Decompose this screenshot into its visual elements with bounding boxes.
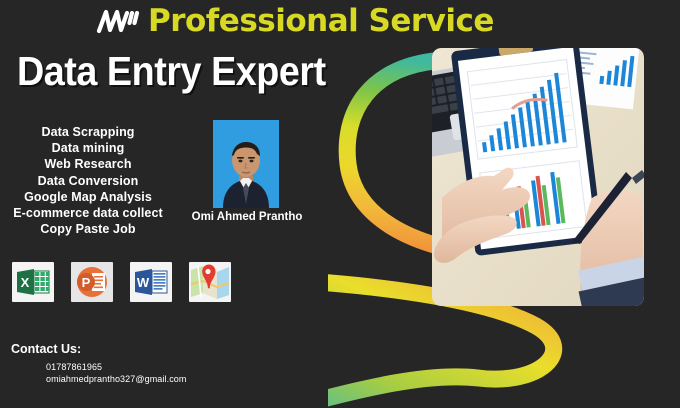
profile-name: Omi Ahmed Prantho	[183, 211, 311, 223]
google-maps-icon[interactable]	[189, 262, 231, 302]
squiggle-zigzag-logo	[96, 6, 142, 36]
list-item: Data mining	[0, 140, 176, 156]
excel-icon[interactable]: X	[12, 262, 54, 302]
svg-text:X: X	[21, 275, 30, 290]
avatar	[213, 120, 279, 208]
word-icon[interactable]: W	[130, 262, 172, 302]
list-item: Copy Paste Job	[0, 221, 176, 237]
business-charts-clipboard-photo	[432, 48, 644, 306]
page-title: Data Entry Expert	[17, 48, 326, 94]
app-icon-row: X P W	[12, 262, 231, 302]
svg-text:P: P	[82, 275, 91, 290]
brand-title: Professional Service	[148, 4, 494, 38]
contact-phone[interactable]: 01787861965	[46, 362, 187, 374]
contact-details: 01787861965 omiahmedprantho327@gmail.com	[46, 362, 187, 385]
contact-heading: Contact Us:	[11, 342, 81, 356]
powerpoint-icon[interactable]: P	[71, 262, 113, 302]
services-list: Data Scrapping Data mining Web Research …	[0, 124, 176, 237]
brand-row: Professional Service	[96, 4, 494, 38]
list-item: Web Research	[0, 156, 176, 172]
list-item: Data Conversion	[0, 173, 176, 189]
list-item: Data Scrapping	[0, 124, 176, 140]
poster-canvas: Professional Service Data Entry Expert D…	[0, 0, 680, 408]
svg-text:W: W	[137, 275, 150, 290]
contact-email[interactable]: omiahmedprantho327@gmail.com	[46, 374, 187, 386]
list-item: E-commerce data collect	[0, 205, 176, 221]
list-item: Google Map Analysis	[0, 189, 176, 205]
